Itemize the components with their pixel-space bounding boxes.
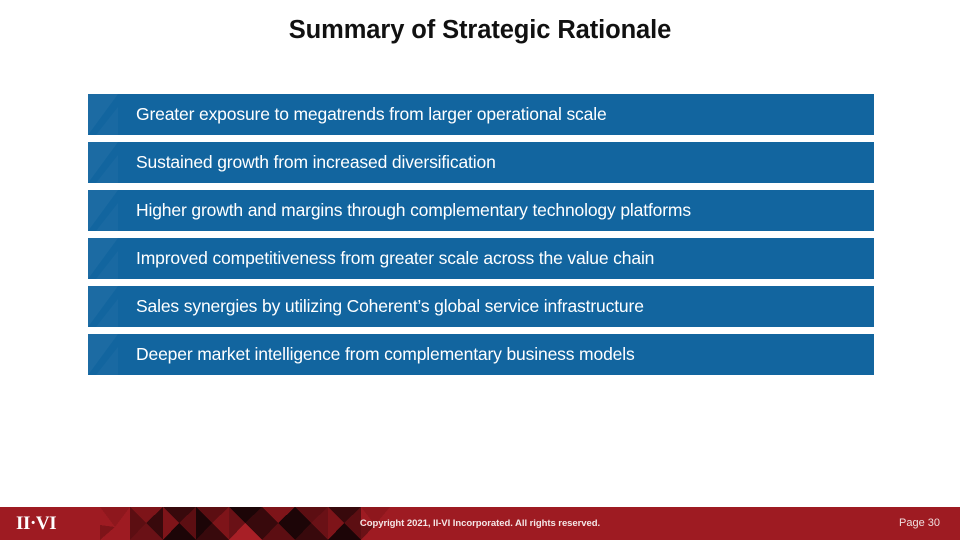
list-item[interactable]: Deeper market intelligence from compleme… (88, 334, 874, 375)
list-item-label: Greater exposure to megatrends from larg… (136, 104, 607, 125)
copyright-text: Copyright 2021, II-VI Incorporated. All … (0, 507, 960, 540)
list-item-label: Higher growth and margins through comple… (136, 200, 691, 221)
page-title: Summary of Strategic Rationale (0, 16, 960, 45)
list-item-label: Improved competitiveness from greater sc… (136, 248, 654, 269)
list-item-label: Sales synergies by utilizing Coherent’s … (136, 296, 644, 317)
rationale-bar-list: Greater exposure to megatrends from larg… (88, 94, 874, 382)
chevron-accent-icon (88, 94, 118, 135)
list-item[interactable]: Greater exposure to megatrends from larg… (88, 94, 874, 135)
list-item[interactable]: Sustained growth from increased diversif… (88, 142, 874, 183)
list-item[interactable]: Sales synergies by utilizing Coherent’s … (88, 286, 874, 327)
page-number: Page 30 (899, 507, 940, 540)
chevron-accent-icon (88, 286, 118, 327)
list-item[interactable]: Higher growth and margins through comple… (88, 190, 874, 231)
chevron-accent-icon (88, 238, 118, 279)
list-item-label: Deeper market intelligence from compleme… (136, 344, 635, 365)
chevron-accent-icon (88, 334, 118, 375)
chevron-accent-icon (88, 142, 118, 183)
list-item-label: Sustained growth from increased diversif… (136, 152, 496, 173)
slide: Summary of Strategic Rationale Greater e… (0, 0, 960, 540)
chevron-accent-icon (88, 190, 118, 231)
list-item[interactable]: Improved competitiveness from greater sc… (88, 238, 874, 279)
slide-footer: II·VI Copyright 2021, II-VI Incorporated… (0, 507, 960, 540)
